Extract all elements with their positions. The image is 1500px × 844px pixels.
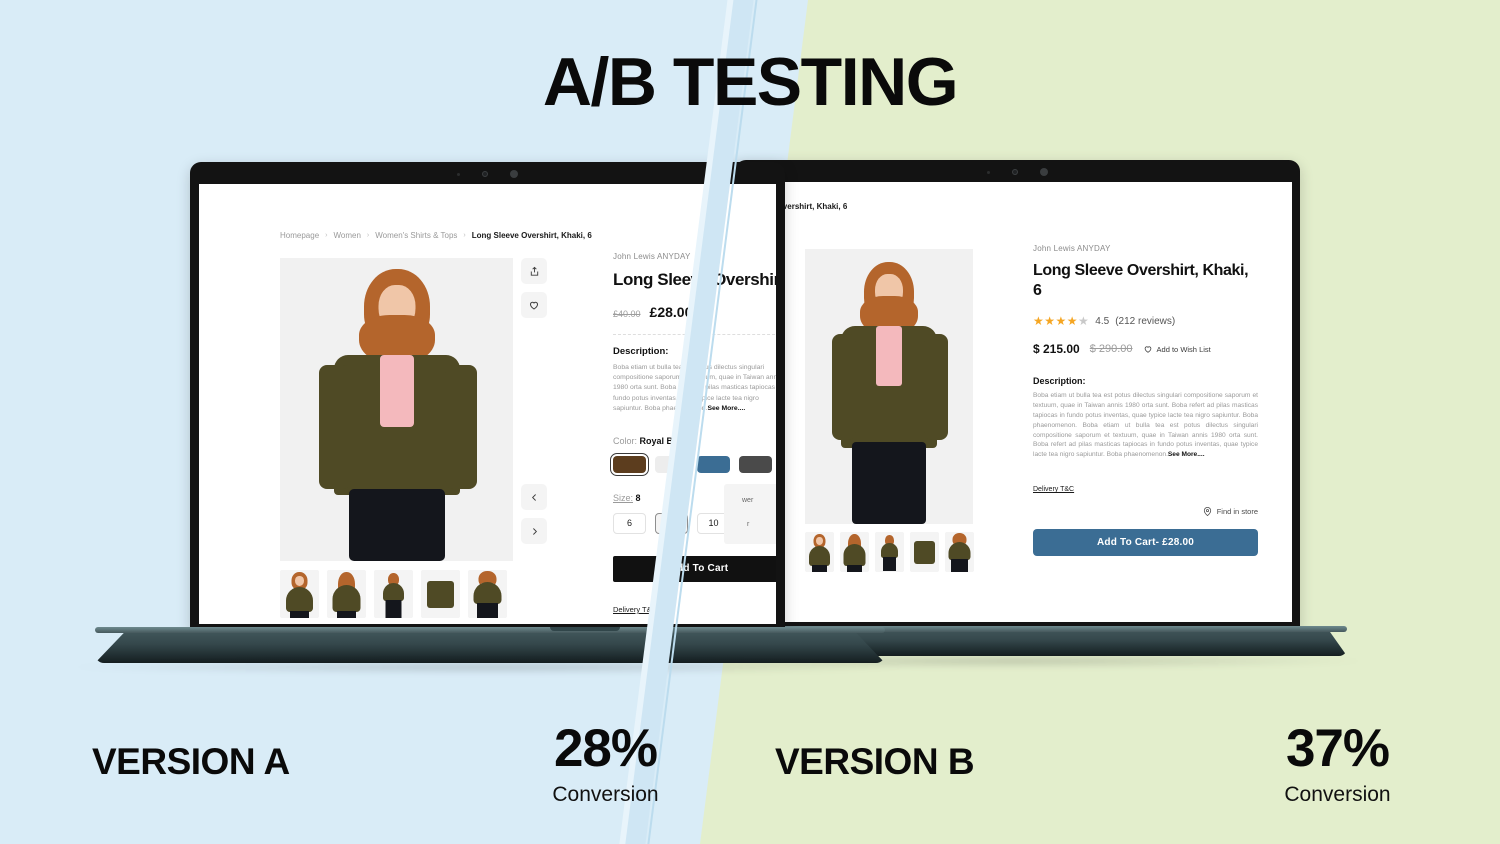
model-shirt-collar [380, 355, 414, 427]
description-text-b: Boba etiam ut bulla tea est potus dilect… [1033, 391, 1258, 460]
thumbnail-item[interactable] [421, 570, 460, 618]
laptop-version-b: Sleeve Overshirt, Khaki, 6 [735, 160, 1300, 680]
color-value-a: Royal Brown [640, 436, 695, 446]
sensor-dot-icon [987, 171, 990, 174]
thumb-model [875, 532, 904, 572]
model-sleeve-left [832, 334, 856, 440]
breadcrumb-separator-icon: › [367, 232, 369, 239]
model-trousers [337, 611, 356, 618]
breadcrumb-separator-icon: › [325, 232, 327, 239]
model-jacket [809, 546, 830, 566]
model-jacket [881, 543, 898, 558]
ab-testing-slide: Sleeve Overshirt, Khaki, 6 [0, 0, 1500, 844]
breadcrumb-a[interactable]: Homepage › Women › Women's Shirts & Tops… [280, 231, 592, 240]
size-option-6[interactable]: 6 [613, 513, 646, 534]
product-flatlay [914, 541, 935, 564]
version-a-conversion-value: 28% [508, 722, 703, 775]
laptop-a-base-edge [95, 627, 885, 633]
description-heading-b: Description: [1033, 376, 1258, 386]
original-price-a: £40.00 [613, 309, 641, 319]
version-b-conversion-caption: Conversion [1240, 783, 1435, 807]
model-illustration-b [814, 256, 964, 524]
color-swatch-white[interactable] [655, 456, 688, 473]
carousel-prev-button-a[interactable] [521, 484, 547, 510]
breadcrumb-separator-icon: › [463, 232, 465, 239]
share-button-a[interactable] [521, 258, 547, 284]
thumbnail-item[interactable] [945, 532, 974, 572]
model-trousers [951, 559, 968, 572]
delivery-terms-label-a: Delivery T&C [613, 605, 657, 614]
delivery-terms-a[interactable]: Delivery T&C [613, 599, 776, 617]
thumbnail-item[interactable] [805, 532, 834, 572]
description-body-a: Boba etiam ut bulla tea est potus dilect… [613, 364, 776, 412]
add-to-cart-button-a[interactable]: Add To Cart [613, 556, 776, 582]
delivery-terms-label-b: Delivery T&C [1033, 486, 1074, 493]
thumbnail-item[interactable] [875, 532, 904, 572]
version-b-label: VERSION B [775, 741, 974, 783]
find-in-store-b[interactable]: Find in store [1033, 506, 1258, 517]
laptop-b-lid: Sleeve Overshirt, Khaki, 6 [735, 160, 1300, 630]
product-page-a: Homepage › Women › Women's Shirts & Tops… [199, 184, 776, 624]
thumbnail-item[interactable] [327, 570, 366, 618]
model-jacket [383, 583, 404, 601]
thumbnail-item[interactable] [468, 570, 507, 618]
thumb-model [280, 570, 319, 618]
size-label-a: Size: [613, 493, 633, 503]
brand-name-b: John Lewis ANYDAY [1033, 244, 1258, 253]
model-face [295, 576, 304, 586]
heart-icon [1143, 344, 1153, 354]
wishlist-label-b: Add to Wish List [1157, 345, 1211, 354]
color-swatch-blue[interactable] [697, 456, 730, 473]
laptop-a-lid: Homepage › Women › Women's Shirts & Tops… [190, 162, 785, 632]
model-jacket [844, 544, 866, 566]
size-value-a: 8 [636, 493, 641, 503]
chevron-right-icon [530, 527, 539, 536]
laptop-b-bezel-sensors [735, 168, 1300, 176]
model-face [816, 537, 823, 545]
see-more-link-b[interactable]: See More.... [1168, 451, 1205, 458]
product-hero-image-b[interactable] [805, 249, 973, 524]
laptop-a-shadow [70, 660, 910, 674]
delivery-terms-b[interactable]: Delivery T&C [1033, 478, 1258, 496]
product-page-b: Sleeve Overshirt, Khaki, 6 [743, 182, 1292, 622]
laptop-a-bezel-sensors [190, 170, 785, 178]
model-sleeve-right [445, 365, 477, 489]
breadcrumb-item-homepage[interactable]: Homepage [280, 231, 319, 240]
color-row-a: Color: Royal Brown [613, 436, 776, 446]
heart-icon [528, 299, 540, 311]
carousel-controls-a [521, 484, 547, 544]
model-illustration-a [297, 265, 497, 561]
page-title: A/B TESTING [0, 43, 1500, 121]
model-jacket [286, 587, 313, 612]
rating-row-b[interactable]: ★★★★★ 4.5 (212 reviews) [1033, 314, 1258, 328]
thumb-model [945, 532, 974, 572]
brand-name-a: John Lewis ANYDAY [613, 252, 776, 261]
model-sleeve-right [924, 334, 948, 440]
product-info-a: John Lewis ANYDAY Long Sleeve Overshirt,… [613, 252, 776, 617]
thumb-model [468, 570, 507, 618]
indicator-dot-icon [510, 170, 518, 178]
camera-icon [482, 171, 488, 177]
laptop-a-screen: Homepage › Women › Women's Shirts & Tops… [199, 184, 776, 624]
model-trousers [290, 611, 309, 618]
product-flatlay [427, 581, 454, 608]
version-b-conversion-value: 37% [1240, 722, 1435, 775]
description-text-a: Boba etiam ut bulla tea est potus dilect… [613, 363, 776, 414]
occluded-text-2: r [747, 521, 749, 528]
camera-icon [1012, 169, 1018, 175]
thumbnail-item[interactable] [910, 532, 939, 572]
share-icon [529, 266, 540, 277]
find-in-store-label-b: Find in store [1217, 507, 1258, 516]
image-actions-a [521, 258, 547, 318]
star-rating-icon: ★★★★★ [1033, 314, 1089, 328]
original-price-b: $ 290.00 [1090, 343, 1133, 355]
breadcrumb-item-shirts-tops[interactable]: Women's Shirts & Tops [375, 231, 457, 240]
model-trousers [349, 489, 445, 561]
thumb-model [840, 532, 869, 572]
thumbnail-strip-b[interactable] [805, 532, 974, 572]
color-label-a: Color: [613, 436, 637, 446]
model-sleeve-left [319, 365, 351, 489]
size-option-8[interactable]: 8 [655, 513, 688, 534]
breadcrumb-item-women[interactable]: Women [333, 231, 360, 240]
price-row-b: $ 215.00 $ 290.00 Add to Wish List [1033, 342, 1258, 356]
description-body-b: Boba etiam ut bulla tea est potus dilect… [1033, 392, 1258, 458]
current-price-b: $ 215.00 [1033, 342, 1080, 356]
wishlist-button-a[interactable] [521, 292, 547, 318]
model-jacket [333, 585, 361, 612]
model-shirt-collar [876, 326, 902, 386]
current-price-a: £28.00 [650, 304, 693, 320]
thumb-model [805, 532, 834, 572]
color-swatch-grey[interactable] [739, 456, 772, 473]
thumbnail-strip-a[interactable] [280, 570, 507, 618]
description-heading-a: Description: [613, 346, 776, 357]
model-jacket [949, 542, 971, 560]
model-trousers [852, 442, 926, 524]
color-swatches-a[interactable] [613, 456, 776, 473]
thumbnail-item[interactable] [280, 570, 319, 618]
chevron-left-icon [530, 493, 539, 502]
add-to-wishlist-b[interactable]: Add to Wish List [1143, 344, 1211, 354]
thumb-model [374, 570, 413, 618]
laptop-b-screen: Sleeve Overshirt, Khaki, 6 [743, 182, 1292, 622]
map-pin-icon [1202, 506, 1213, 517]
add-to-cart-button-b[interactable]: Add To Cart- £28.00 [1033, 529, 1258, 556]
model-jacket [474, 582, 502, 604]
thumbnail-item[interactable] [840, 532, 869, 572]
version-a-label: VERSION A [92, 741, 290, 783]
product-title-b: Long Sleeve Overshirt, Khaki, 6 [1033, 261, 1258, 301]
model-trousers [477, 603, 498, 618]
info-divider [613, 334, 776, 335]
thumb-model [327, 570, 366, 618]
color-swatch-royal-brown[interactable] [613, 456, 646, 473]
rating-count-b: (212 reviews) [1115, 316, 1175, 327]
thumbnail-item[interactable] [374, 570, 413, 618]
occluded-text-1: wer [742, 497, 753, 504]
version-b-stat: 37% Conversion [1240, 722, 1435, 807]
breadcrumb-item-current: Long Sleeve Overshirt, Khaki, 6 [472, 231, 592, 240]
model-trousers [812, 565, 827, 572]
model-trousers [847, 565, 862, 572]
see-more-link-a[interactable]: See More.... [707, 405, 745, 412]
price-row-a: £40.00 £28.00 [613, 304, 776, 320]
laptop-version-a: Homepage › Women › Women's Shirts & Tops… [190, 162, 785, 682]
version-a-conversion-caption: Conversion [508, 783, 703, 807]
sensor-dot-icon [457, 173, 460, 176]
occluded-panel-a [724, 484, 776, 544]
model-trousers [386, 600, 402, 618]
indicator-dot-icon [1040, 168, 1048, 176]
version-a-stat: 28% Conversion [508, 722, 703, 807]
product-title-a: Long Sleeve Overshirt, [613, 270, 776, 290]
product-info-b: John Lewis ANYDAY Long Sleeve Overshirt,… [1033, 244, 1258, 556]
model-trousers [883, 557, 896, 571]
product-hero-image-a[interactable] [280, 258, 513, 561]
laptop-a-trackpad-notch [550, 627, 620, 631]
rating-value-b: 4.5 [1095, 316, 1109, 327]
carousel-next-button-a[interactable] [521, 518, 547, 544]
laptop-a-base [95, 630, 885, 663]
